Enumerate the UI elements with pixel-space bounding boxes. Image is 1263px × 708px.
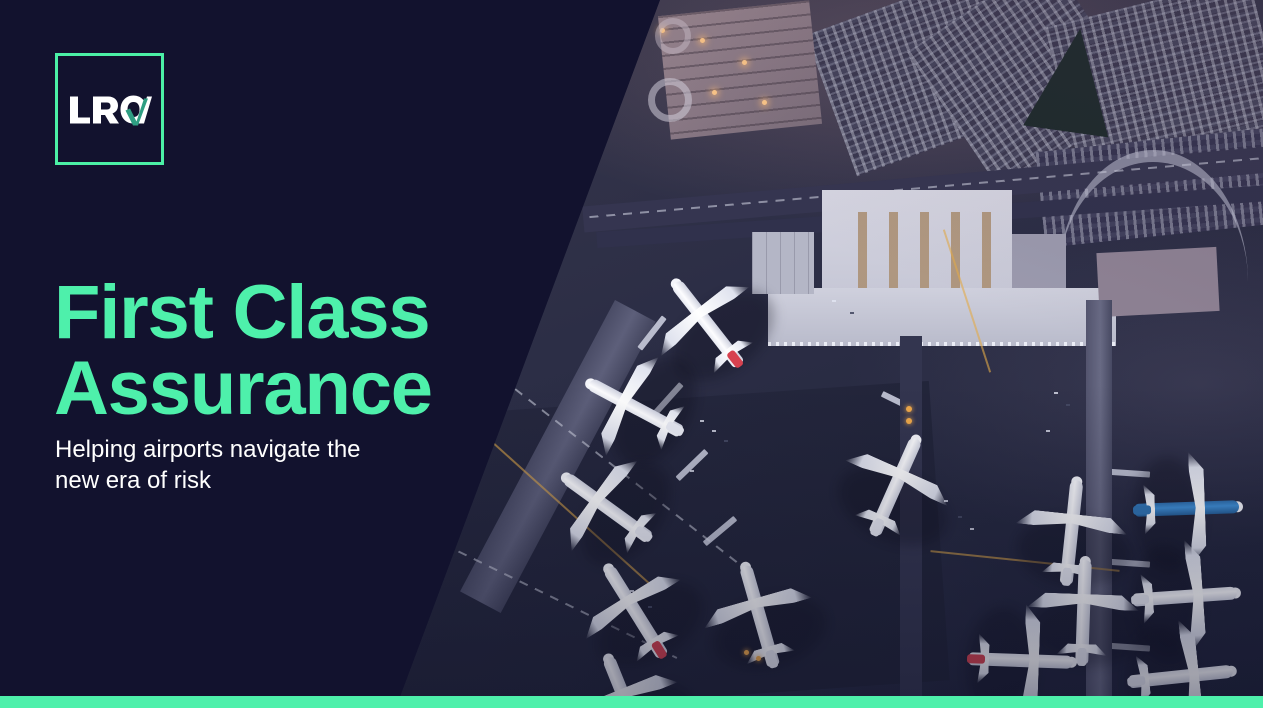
- ground-vehicle: [850, 312, 854, 314]
- satellite-building-left: [752, 232, 814, 294]
- apron-light: [906, 418, 912, 424]
- ramp-loop: [648, 78, 692, 122]
- garage-light: [700, 38, 705, 43]
- page-title: First Class Assurance: [54, 275, 474, 427]
- ground-vehicle: [1066, 404, 1070, 406]
- apron-light: [744, 650, 749, 655]
- ground-vehicle: [724, 440, 728, 442]
- terminal-bay-windows: [836, 212, 998, 300]
- aircraft-tailfin: [1131, 594, 1150, 604]
- lrqa-logo-icon: [68, 92, 152, 126]
- garage-light: [742, 60, 747, 65]
- presentation-slide: First Class Assurance Helping airports n…: [0, 0, 1263, 708]
- ground-vehicle: [832, 300, 836, 302]
- ground-vehicle: [944, 500, 948, 502]
- building-roofline: [752, 232, 814, 294]
- satellite-building-right: [1012, 234, 1066, 288]
- apron-light: [906, 406, 912, 412]
- ramp-loop: [655, 18, 691, 54]
- page-subtitle: Helping airports navigate the new era of…: [55, 434, 385, 496]
- aircraft: [1119, 611, 1243, 697]
- terminal-concourse-roof: [768, 288, 1116, 346]
- ground-vehicle: [712, 430, 716, 432]
- aircraft-tailfin: [967, 654, 985, 664]
- ground-vehicle: [1054, 392, 1058, 394]
- ground-vehicle: [690, 470, 694, 472]
- apron-light: [756, 656, 761, 661]
- ground-vehicle: [630, 590, 634, 592]
- ground-vehicle: [648, 606, 652, 608]
- garage-light: [712, 90, 717, 95]
- cargo-building: [1096, 247, 1219, 317]
- aircraft: [963, 599, 1079, 697]
- aircraft-tailfin: [1133, 505, 1151, 515]
- ground-vehicle: [970, 528, 974, 530]
- ground-vehicle: [700, 420, 704, 422]
- aircraft-tailfin: [1127, 675, 1146, 686]
- garage-light: [762, 100, 767, 105]
- aircraft-tailfin: [1077, 648, 1087, 666]
- ground-vehicle: [958, 516, 962, 518]
- concourse-roof-edge: [768, 342, 1116, 346]
- accent-bar: [0, 696, 1263, 708]
- ground-vehicle: [1046, 430, 1050, 432]
- logo-frame[interactable]: [55, 53, 164, 165]
